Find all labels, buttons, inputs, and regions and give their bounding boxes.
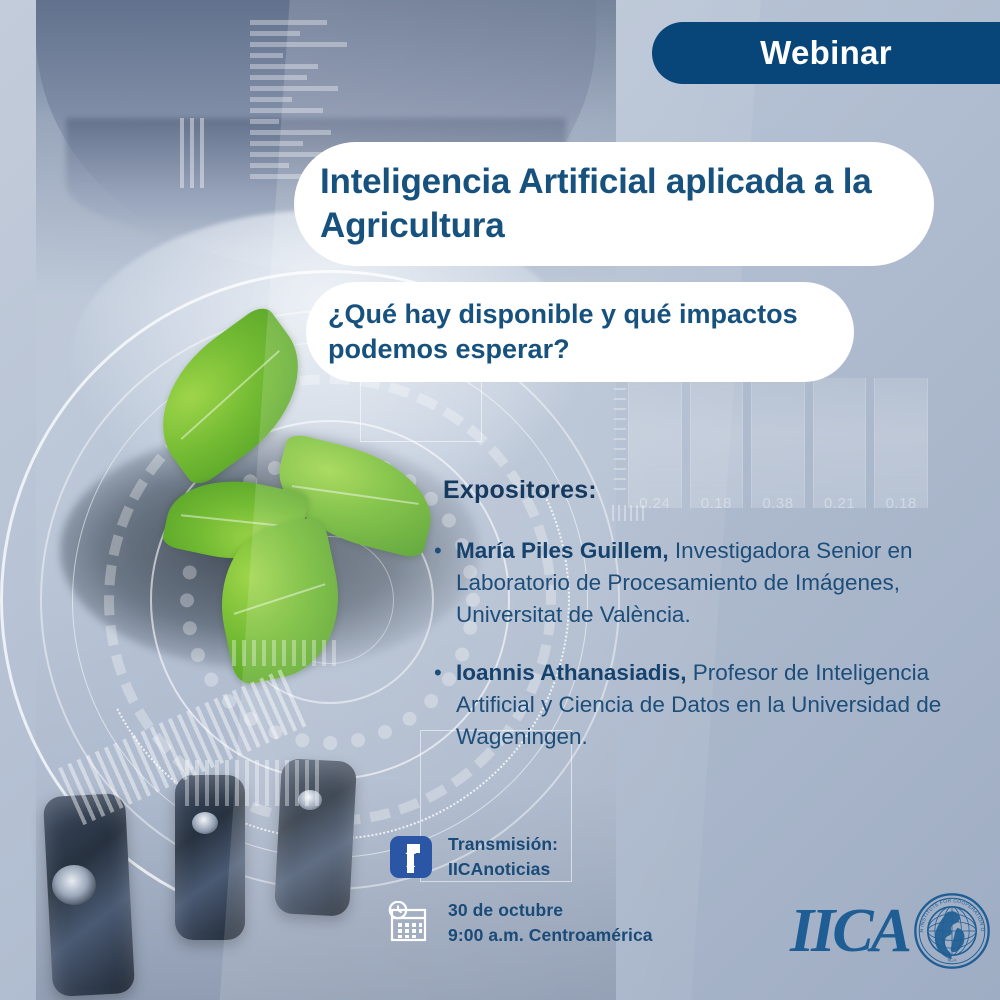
- webinar-title-pill: Inteligencia Artificial aplicada a la Ag…: [294, 142, 934, 266]
- page-subtitle: ¿Qué hay disponible y qué impactos podem…: [328, 297, 828, 367]
- speakers-heading: Expositores:: [443, 476, 597, 505]
- webinar-badge: Webinar: [652, 22, 1000, 84]
- iica-logo: IICA INTER-AMERICAN INSTITUTE FOR COOPER…: [790, 892, 991, 970]
- date-text: 30 de octubre 9:00 a.m. Centroamérica: [448, 898, 653, 949]
- ribbed-detail-3: [180, 118, 206, 188]
- list-item: • Ioannis Athanasiadis, Profesor de Inte…: [434, 657, 954, 753]
- calendar-clock-icon: [388, 901, 432, 945]
- ribbed-detail-2: [185, 760, 325, 806]
- event-time: 9:00 a.m. Centroamérica: [448, 923, 653, 948]
- webinar-subtitle-pill: ¿Qué hay disponible y qué impactos podem…: [306, 282, 854, 382]
- background-bar-chart: 0.24 0.18 0.38 0.21 0.18: [628, 378, 928, 508]
- seal-abbr: IICA: [947, 957, 957, 962]
- chart-axis-ticks: [614, 388, 626, 498]
- bar-value: 0.21: [814, 495, 866, 512]
- page-title: Inteligencia Artificial aplicada a la Ag…: [320, 160, 904, 248]
- bar-value: 0.18: [875, 495, 927, 512]
- facebook-icon[interactable]: f: [390, 836, 432, 878]
- speaker-description: Ioannis Athanasiadis, Profesor de Inteli…: [456, 657, 954, 753]
- stream-label: Transmisión:: [448, 832, 558, 857]
- speaker-name: María Piles Guillem,: [456, 538, 669, 563]
- bar-column: 0.18: [690, 378, 744, 508]
- stream-info: f Transmisión: IICAnoticias: [390, 832, 558, 883]
- list-item: • María Piles Guillem, Investigadora Sen…: [434, 535, 954, 631]
- iica-wordmark: IICA: [790, 900, 909, 962]
- stream-handle: IICAnoticias: [448, 857, 558, 882]
- bar-column: 0.18: [874, 378, 928, 508]
- speakers-list: • María Piles Guillem, Investigadora Sen…: [434, 535, 954, 779]
- bar-column: 0.21: [813, 378, 867, 508]
- event-date: 30 de octubre: [448, 898, 653, 923]
- soil-tray-graphic: [60, 430, 480, 670]
- webinar-poster: 0.24 0.18 0.38 0.21 0.18 Webinar Intelig…: [0, 0, 1000, 1000]
- ribbed-detail-4: [232, 640, 342, 666]
- ribbed-detail-1: [58, 667, 312, 825]
- speaker-name: Ioannis Athanasiadis,: [456, 660, 686, 685]
- bar-value: 0.24: [629, 495, 681, 512]
- bar-column: 0.24: [628, 378, 682, 508]
- bar-column: 0.38: [751, 378, 805, 508]
- bullet-marker: •: [434, 535, 456, 631]
- bar-value: 0.38: [752, 495, 804, 512]
- chart-tick-row: [612, 505, 646, 521]
- date-info: 30 de octubre 9:00 a.m. Centroamérica: [388, 898, 653, 949]
- iica-seal-icon: INTER-AMERICAN INSTITUTE FOR COOPERATION…: [913, 892, 991, 970]
- bullet-marker: •: [434, 657, 456, 753]
- stream-text: Transmisión: IICAnoticias: [448, 832, 558, 883]
- bar-value: 0.18: [691, 495, 743, 512]
- webinar-badge-label: Webinar: [760, 34, 892, 72]
- speaker-description: María Piles Guillem, Investigadora Senio…: [456, 535, 954, 631]
